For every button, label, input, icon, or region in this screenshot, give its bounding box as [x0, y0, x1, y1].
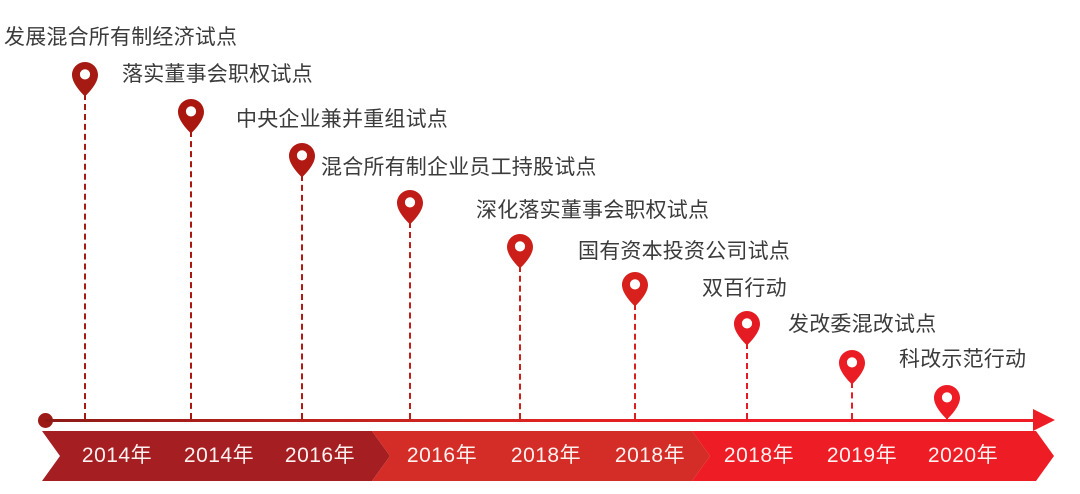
year-label[interactable]: 2018年 — [600, 431, 700, 481]
event-stem-line — [84, 94, 86, 419]
map-pin-icon[interactable] — [734, 311, 760, 345]
map-pin-icon[interactable] — [622, 272, 648, 306]
event-stem-line — [634, 304, 636, 419]
year-label[interactable]: 2019年 — [812, 431, 912, 481]
event-stem-line — [190, 131, 192, 419]
map-pin-icon[interactable] — [289, 143, 315, 177]
map-pin-icon[interactable] — [507, 234, 533, 268]
map-pin-icon[interactable] — [397, 190, 423, 224]
map-pin-icon[interactable] — [178, 99, 204, 133]
year-label[interactable]: 2016年 — [392, 431, 492, 481]
event-stem-line — [746, 343, 748, 419]
year-label[interactable]: 2018年 — [709, 431, 809, 481]
event-label: 落实董事会职权试点 — [122, 63, 313, 87]
axis-line — [45, 419, 1048, 422]
event-label: 发改委混改试点 — [788, 313, 936, 337]
event-stem-line — [301, 175, 303, 419]
map-pin-icon[interactable] — [839, 350, 865, 384]
year-label[interactable]: 2014年 — [67, 431, 167, 481]
event-label: 科改示范行动 — [899, 348, 1026, 372]
map-pin-icon[interactable] — [72, 62, 98, 96]
event-label: 发展混合所有制经济试点 — [4, 26, 237, 50]
map-pin-icon[interactable] — [934, 385, 960, 419]
event-stem-line — [519, 266, 521, 419]
event-label: 中央企业兼并重组试点 — [236, 108, 448, 132]
year-label[interactable]: 2018年 — [496, 431, 596, 481]
event-label: 混合所有制企业员工持股试点 — [321, 156, 597, 180]
axis-arrow-icon — [1033, 409, 1055, 431]
event-stem-line — [409, 222, 411, 419]
year-label[interactable]: 2016年 — [270, 431, 370, 481]
year-label[interactable]: 2014年 — [169, 431, 269, 481]
event-label: 深化落实董事会职权试点 — [476, 199, 709, 223]
event-label: 国有资本投资公司试点 — [578, 240, 790, 264]
event-stem-line — [851, 382, 853, 419]
year-label[interactable]: 2020年 — [913, 431, 1013, 481]
event-label: 双百行动 — [702, 277, 787, 301]
timeline-infographic: 发展混合所有制经济试点落实董事会职权试点中央企业兼并重组试点混合所有制企业员工持… — [0, 0, 1080, 494]
